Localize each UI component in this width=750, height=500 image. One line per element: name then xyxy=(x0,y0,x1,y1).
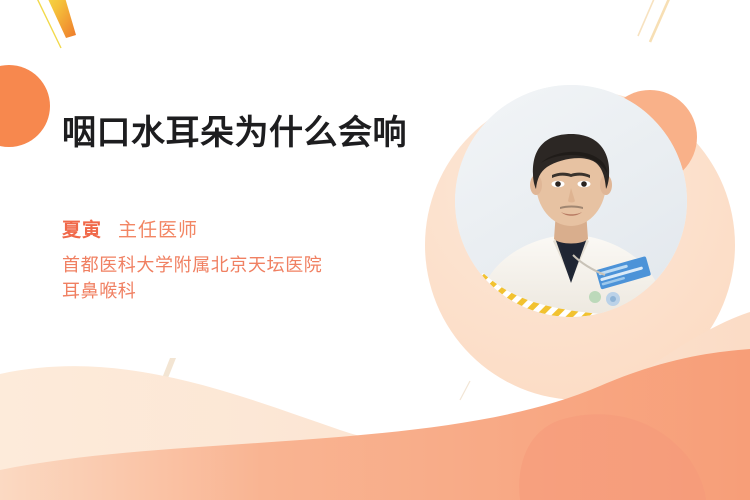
thin-line-topright-b xyxy=(650,0,672,42)
wave-pale xyxy=(0,312,750,500)
thin-line-topleft xyxy=(33,0,61,48)
pin-green xyxy=(589,291,601,303)
doctor-portrait xyxy=(455,85,687,317)
doctor-department: 耳鼻喉科 xyxy=(62,279,442,304)
doctor-identity: 夏寅 主任医师 xyxy=(62,215,442,242)
doctor-hospital: 首都医科大学附属北京天坛医院 xyxy=(62,253,442,278)
thin-line-topright-a xyxy=(638,0,657,36)
video-cover-card: 咽口水耳朵为什么会响 夏寅 主任医师 首都医科大学附属北京天坛医院 耳鼻喉科 xyxy=(0,0,750,500)
page-title: 咽口水耳朵为什么会响 xyxy=(62,110,412,157)
diagonal-stripe-topleft xyxy=(41,0,76,38)
text-content: 咽口水耳朵为什么会响 夏寅 主任医师 首都医科大学附属北京天坛医院 耳鼻喉科 xyxy=(62,110,442,304)
wave-overlap-blob xyxy=(519,414,706,500)
doctor-role: 主任医师 xyxy=(118,215,198,242)
thin-sliver-right xyxy=(460,381,470,400)
accent-circle-left xyxy=(0,65,50,147)
thin-sliver-bottom xyxy=(155,358,176,398)
doctor-name: 夏寅 xyxy=(62,215,102,242)
wave-strong xyxy=(0,349,750,500)
